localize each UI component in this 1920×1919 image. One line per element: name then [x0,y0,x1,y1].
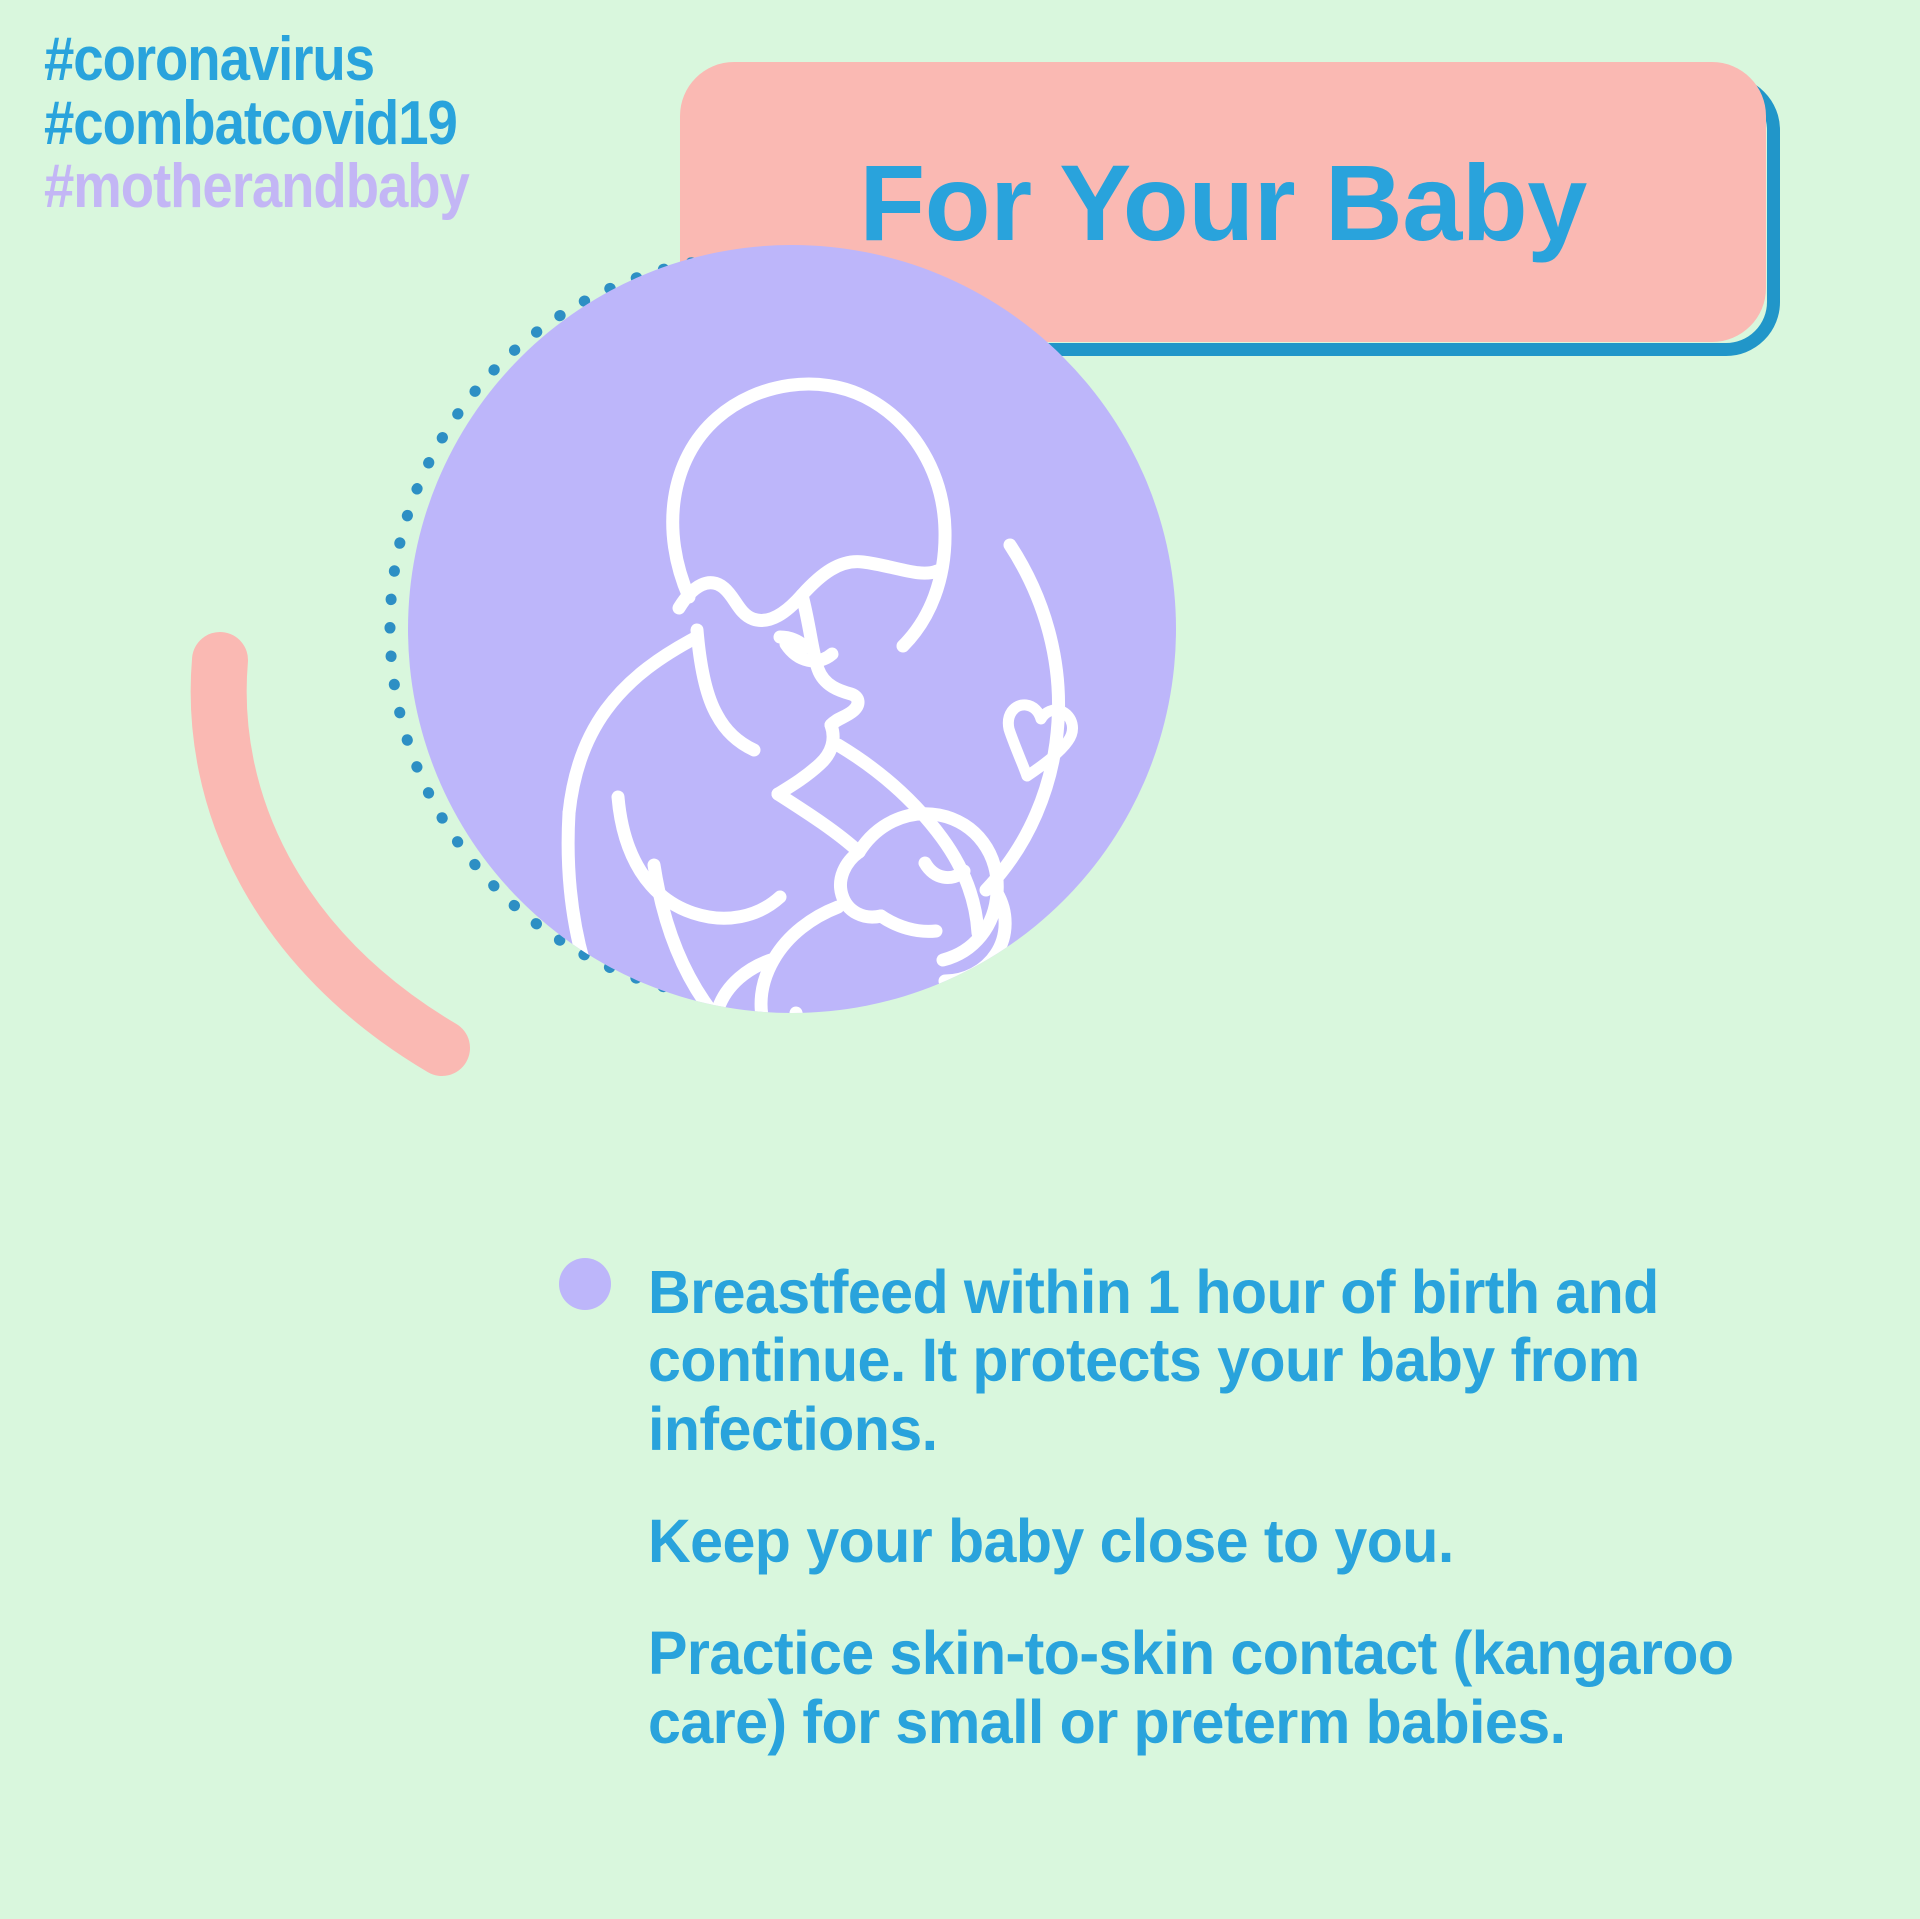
hashtag-list: #coronavirus #combatcovid19 #motherandba… [44,30,527,221]
hashtag-motherandbaby: #motherandbaby [44,157,469,217]
mother-breastfeeding-baby-illustration [408,245,1176,1013]
hashtag-combatcovid19: #combatcovid19 [44,94,469,154]
hashtag-coronavirus: #coronavirus [44,30,469,90]
poster-canvas: #coronavirus #combatcovid19 #motherandba… [0,0,1920,1919]
tips-list: Breastfeed within 1 hour of birth and co… [648,1258,1838,1756]
tip-item-3: Practice skin-to-skin contact (kangaroo … [648,1619,1802,1756]
tip-item-2: Keep your baby close to you. [648,1507,1802,1575]
tip-item-1: Breastfeed within 1 hour of birth and co… [648,1258,1802,1463]
bullet-dot [559,1258,611,1310]
page-title: For Your Baby [680,62,1766,342]
